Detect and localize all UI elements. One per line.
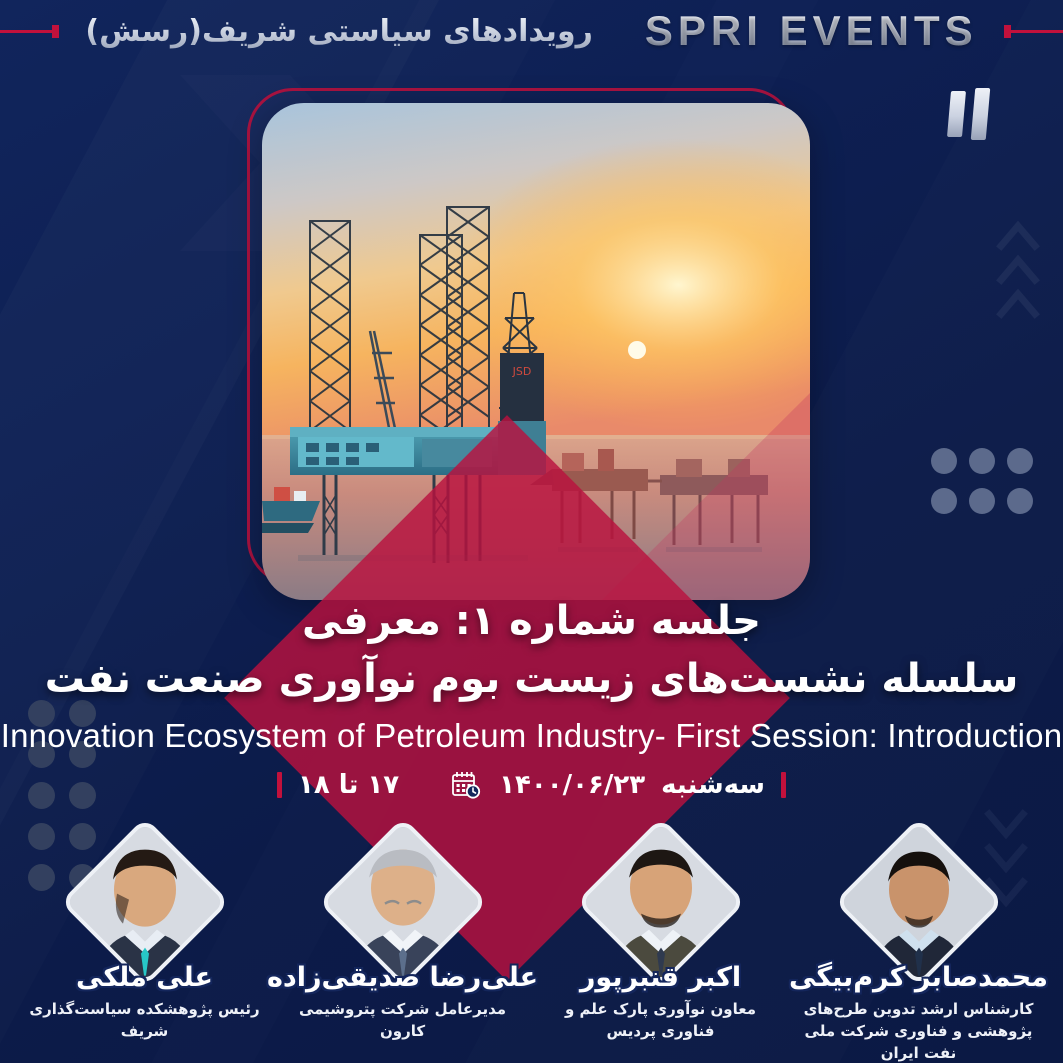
speaker-card: اکبر قنبرپور معاون نوآوری پارک علم و فنا… — [532, 828, 790, 1043]
speaker-card: محمدصابر کرم‌بیگی کارشناس ارشد تدوین طرح… — [790, 828, 1048, 1063]
header-rule-right — [1004, 30, 1063, 33]
speaker-name: علی ملکی — [76, 962, 213, 993]
speaker-name: محمدصابر کرم‌بیگی — [789, 962, 1048, 993]
avatar — [587, 828, 735, 976]
brand-title-en: SPRI EVENTS — [619, 10, 1004, 52]
speaker-role: معاون نوآوری پارک علم و فناوری پردیس — [532, 999, 790, 1043]
session-title-fa: جلسه شماره ۱: معرفی — [0, 596, 1063, 646]
event-meta-row: سه‌شنبه ۱۴۰۰/۰۶/۲۳ ۱۷ — [0, 768, 1063, 802]
speaker-card: علی ملکی رئیس پژوهشکده سیاست‌گذاری شریف — [16, 828, 274, 1043]
title-block: جلسه شماره ۱: معرفی سلسله نشست‌های زیست … — [0, 596, 1063, 756]
speaker-role: کارشناس ارشد تدوین طرح‌های پژوهشی و فناو… — [790, 999, 1048, 1063]
event-date: ۱۴۰۰/۰۶/۲۳ — [499, 770, 645, 800]
avatar — [329, 828, 477, 976]
chevron-up-icon — [995, 212, 1041, 328]
series-title-fa: سلسله نشست‌های زیست بوم نوآوری صنعت نفت — [0, 654, 1063, 704]
dot-grid-right-icon — [919, 448, 1033, 528]
svg-text:JSD: JSD — [512, 365, 532, 378]
event-poster: SPRI EVENTS رویدادهای سیاستی شریف(رسش) — [0, 0, 1063, 1063]
hero-image-container: JSD — [262, 103, 810, 600]
avatar — [71, 828, 219, 976]
event-weekday: سه‌شنبه — [661, 770, 765, 800]
header-rule-left — [0, 30, 59, 33]
speaker-card: علی‌رضا صدیقی‌زاده مدیرعامل شرکت پتروشیم… — [274, 828, 532, 1043]
series-title-en: Innovation Ecosystem of Petroleum Indust… — [0, 716, 1063, 756]
event-time: ۱۷ تا ۱۸ — [298, 770, 399, 800]
meta-divider-right — [781, 772, 786, 798]
quote-mark-icon — [949, 88, 988, 140]
poster-header: SPRI EVENTS رویدادهای سیاستی شریف(رسش) — [0, 0, 1063, 62]
speaker-role: مدیرعامل شرکت پتروشیمی کارون — [274, 999, 532, 1043]
hero-image: JSD — [262, 103, 810, 600]
speakers-row: علی ملکی رئیس پژوهشکده سیاست‌گذاری شریف — [0, 828, 1063, 1063]
speaker-name: علی‌رضا صدیقی‌زاده — [267, 962, 538, 993]
brand-title-fa: رویدادهای سیاستی شریف(رسش) — [59, 12, 619, 51]
meta-divider-left — [277, 772, 282, 798]
calendar-clock-icon — [449, 768, 483, 802]
speaker-role: رئیس پژوهشکده سیاست‌گذاری شریف — [16, 999, 274, 1043]
speaker-name: اکبر قنبرپور — [580, 962, 741, 993]
avatar — [845, 828, 993, 976]
